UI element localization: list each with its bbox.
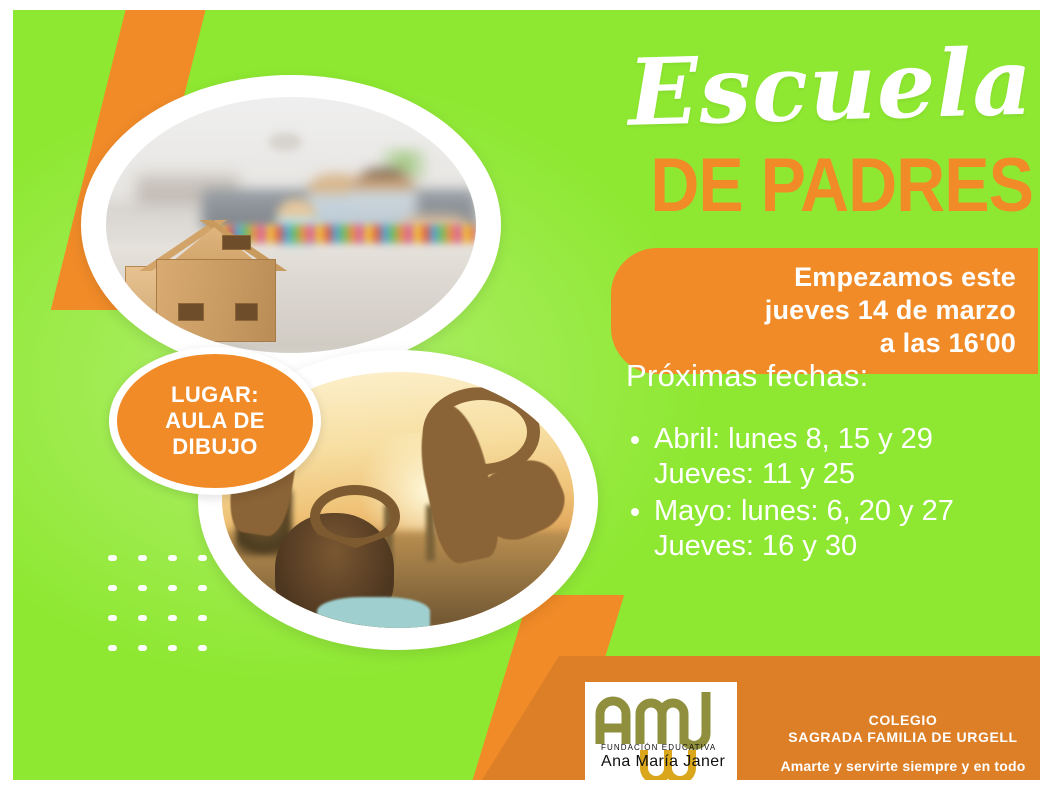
photo-bubble-family	[81, 75, 501, 375]
place-badge-line-1: LUGAR:	[171, 382, 259, 408]
place-badge: LUGAR: AULA DE DIBUJO	[117, 354, 313, 488]
poster-canvas: LUGAR: AULA DE DIBUJO Escuela DE PADRES …	[13, 10, 1040, 780]
school-identity: COLEGIO SAGRADA FAMILIA DE URGELL Amarte…	[758, 712, 1040, 774]
svg-text:FUNDACIÓN EDUCATIVA: FUNDACIÓN EDUCATIVA	[601, 743, 716, 752]
place-badge-line-2: AULA DE	[165, 408, 265, 434]
page-title-subtitle: DE PADRES	[573, 146, 1033, 224]
date-item-sub: Jueves: 11 y 25	[654, 457, 1040, 492]
photo-family-playing-with-toys-and-wooden-house	[106, 97, 476, 353]
list-item: Abril: lunes 8, 15 y 29 Jueves: 11 y 25	[654, 422, 1040, 492]
amj-logo-icon: FUNDACIÓN EDUCATIVA Ana María Janer	[588, 684, 734, 780]
page-title-script: Escuela	[572, 30, 1035, 153]
date-item-sub: Jueves: 16 y 30	[654, 529, 1040, 564]
svg-text:Ana María Janer: Ana María Janer	[601, 753, 726, 770]
school-name-line-2: SAGRADA FAMILIA DE URGELL	[758, 729, 1040, 746]
school-motto: Amarte y servirte siempre y en todo	[758, 758, 1040, 774]
start-date-line-2: jueves 14 de marzo	[611, 294, 1016, 327]
date-item-main: Abril: lunes 8, 15 y 29	[654, 423, 933, 455]
upcoming-dates-label: Próximas fechas:	[626, 358, 869, 394]
list-item: Mayo: lunes: 6, 20 y 27 Jueves: 16 y 30	[654, 494, 1040, 564]
foundation-logo: FUNDACIÓN EDUCATIVA Ana María Janer	[585, 682, 737, 780]
upcoming-dates-list: Abril: lunes 8, 15 y 29 Jueves: 11 y 25 …	[626, 422, 1040, 566]
school-name-line-1: COLEGIO	[758, 712, 1040, 729]
start-date-line-1: Empezamos este	[611, 261, 1016, 294]
dot-grid-decoration	[108, 555, 200, 647]
start-date-banner: Empezamos este jueves 14 de marzo a las …	[611, 248, 1038, 374]
start-date-line-3: a las 16'00	[611, 327, 1016, 360]
date-item-main: Mayo: lunes: 6, 20 y 27	[654, 495, 954, 527]
wooden-toy-house	[125, 217, 303, 340]
place-badge-line-3: DIBUJO	[172, 434, 258, 460]
